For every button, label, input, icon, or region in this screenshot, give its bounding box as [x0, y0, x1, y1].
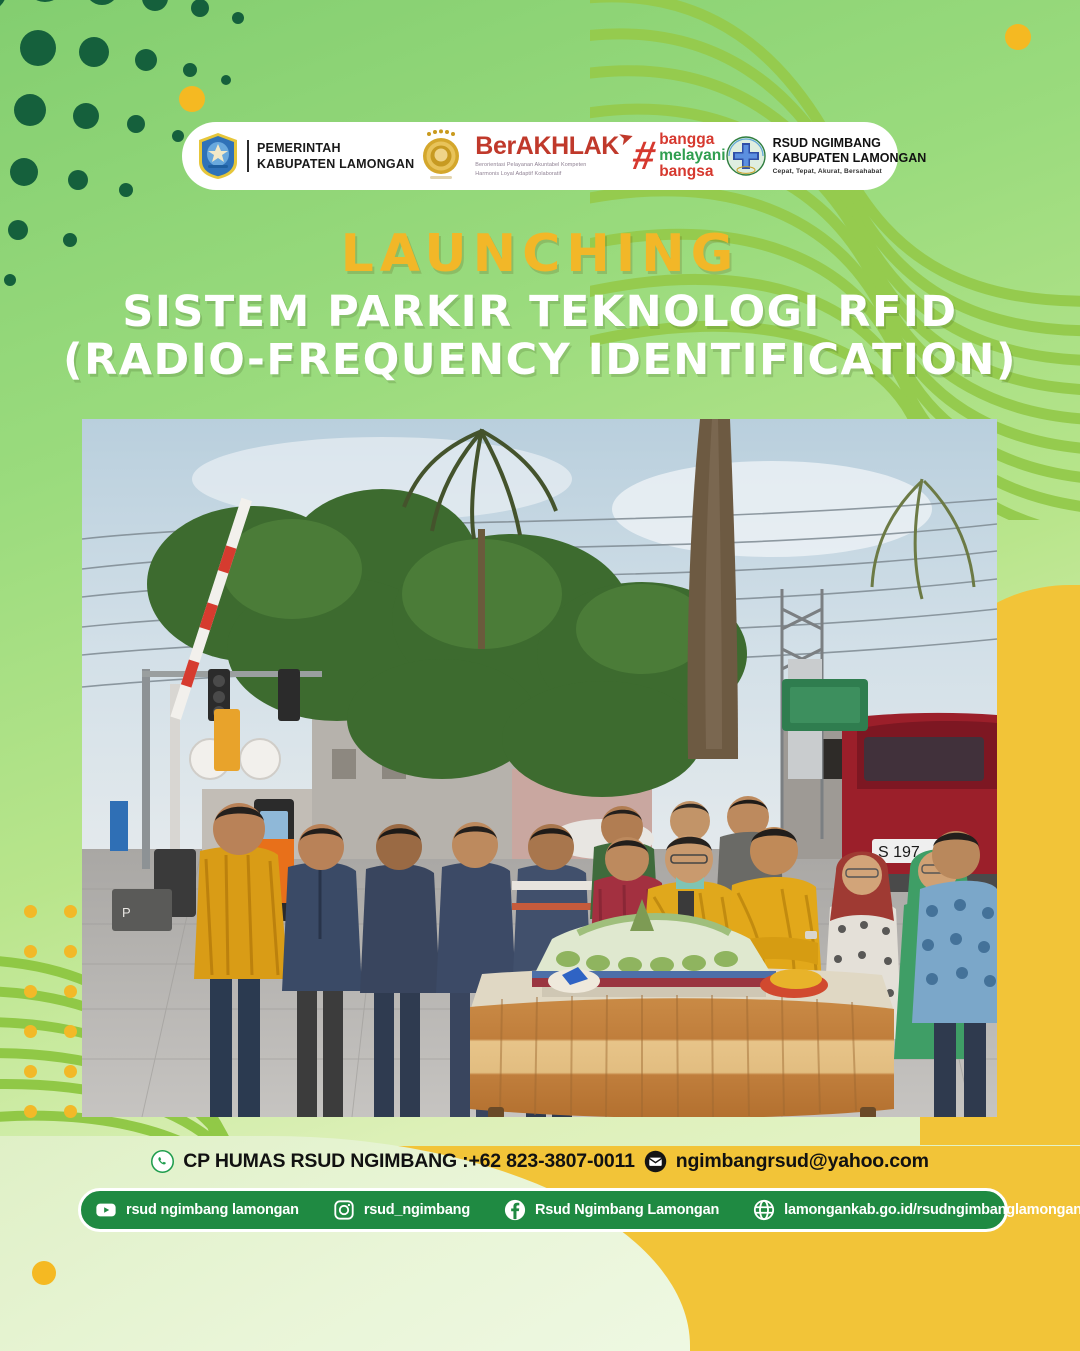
lamongan-crest-icon: [196, 132, 240, 180]
berakhlak-sub: Berorientasi Pelayanan Akuntabel Kompete…: [475, 161, 633, 177]
whatsapp-icon[interactable]: [151, 1150, 174, 1173]
yellow-dot-accent-top-right: [1005, 24, 1031, 50]
bangga-line-2: melayani: [659, 148, 725, 164]
berakhlak-main: BerAKHLAK ➤: [475, 134, 633, 159]
social-label-website: lamongankab.go.id/rsudngimbanglamongan: [784, 1202, 1080, 1218]
rsud-label: RSUD NGIMBANG KABUPATEN LAMONGAN Cepat, …: [773, 136, 927, 176]
event-photo-illustration: Brilliant: [82, 419, 997, 1117]
berakhlak-wordmark: BerAKHLAK ➤ Berorientasi Pelayanan Akunt…: [475, 134, 633, 177]
yellow-band-bottom: [0, 1146, 1080, 1351]
berakhlak-sub-line-1: Berorientasi Pelayanan Akuntabel Kompete…: [475, 161, 633, 169]
poster-canvas: PEMERINTAH KABUPATEN LAMONGAN BerAKHLAK: [0, 0, 1080, 1351]
social-label-instagram: rsud_ngimbang: [364, 1202, 470, 1218]
rsud-line-2: KABUPATEN LAMONGAN: [773, 151, 927, 166]
gov-line-2: KABUPATEN LAMONGAN: [257, 156, 414, 172]
rsud-tagline: Cepat, Tepat, Akurat, Bersahabat: [773, 168, 927, 176]
rsud-cross-logo-icon: [726, 136, 766, 176]
yellow-dot-accent-top-left: [179, 86, 205, 112]
social-media-bar: rsud ngimbang lamongan rsud_ngimbang Rsu…: [78, 1188, 1008, 1232]
berakhlak-sub-line-2: Harmonis Loyal Adaptif Kolaboratif: [475, 170, 633, 178]
hashtag-icon: #: [630, 140, 658, 172]
logo-header-bar: PEMERINTAH KABUPATEN LAMONGAN BerAKHLAK: [182, 122, 898, 190]
globe-icon[interactable]: [753, 1199, 775, 1221]
contact-phone-text: CP HUMAS RSUD NGIMBANG :+62 823-3807-001…: [183, 1150, 634, 1173]
title-launching: LAUNCHING: [0, 228, 1080, 280]
contact-email-text: ngimbangrsud@yahoo.com: [676, 1150, 929, 1173]
social-item-instagram[interactable]: rsud_ngimbang: [333, 1199, 470, 1221]
government-logo-group: PEMERINTAH KABUPATEN LAMONGAN: [196, 132, 414, 180]
rsud-logo-group: RSUD NGIMBANG KABUPATEN LAMONGAN Cepat, …: [726, 136, 927, 176]
svg-text:S 197: S 197: [878, 844, 920, 861]
svg-text:P: P: [122, 905, 131, 920]
contact-line: CP HUMAS RSUD NGIMBANG :+62 823-3807-001…: [0, 1150, 1080, 1173]
social-label-youtube: rsud ngimbang lamongan: [126, 1202, 299, 1218]
bangga-melayani-bangsa-logo: # bangga melayani bangsa: [633, 132, 726, 179]
social-item-facebook[interactable]: Rsud Ngimbang Lamongan: [504, 1199, 719, 1221]
gov-line-1: PEMERINTAH: [257, 140, 414, 156]
event-photo: Brilliant: [82, 419, 997, 1117]
bangga-line-1: bangga: [659, 132, 725, 148]
social-item-youtube[interactable]: rsud ngimbang lamongan: [95, 1199, 299, 1221]
email-icon[interactable]: [644, 1150, 667, 1173]
bangga-wordmark: bangga melayani bangsa: [659, 132, 725, 179]
social-label-facebook: Rsud Ngimbang Lamongan: [535, 1202, 719, 1218]
facebook-icon[interactable]: [504, 1199, 526, 1221]
government-label: PEMERINTAH KABUPATEN LAMONGAN: [247, 140, 414, 173]
social-item-website[interactable]: lamongankab.go.id/rsudngimbanglamongan: [753, 1199, 1080, 1221]
berakhlak-logo-group: BerAKHLAK ➤ Berorientasi Pelayanan Akunt…: [414, 129, 633, 183]
yellow-dot-grid: [24, 905, 84, 1120]
berakhlak-main-text: BerAKHLAK: [475, 134, 619, 159]
poster-title: LAUNCHING SISTEM PARKIR TEKNOLOGI RFID (…: [0, 228, 1080, 384]
gold-medal-icon: [414, 129, 468, 183]
yellow-dot-accent-bottom-left: [32, 1261, 56, 1285]
title-line-2: SISTEM PARKIR TEKNOLOGI RFID: [0, 288, 1080, 336]
bangga-line-3: bangsa: [659, 164, 725, 180]
rsud-line-1: RSUD NGIMBANG: [773, 136, 927, 151]
youtube-icon[interactable]: [95, 1199, 117, 1221]
instagram-icon[interactable]: [333, 1199, 355, 1221]
title-line-3: (RADIO-FREQUENCY IDENTIFICATION): [0, 336, 1080, 384]
